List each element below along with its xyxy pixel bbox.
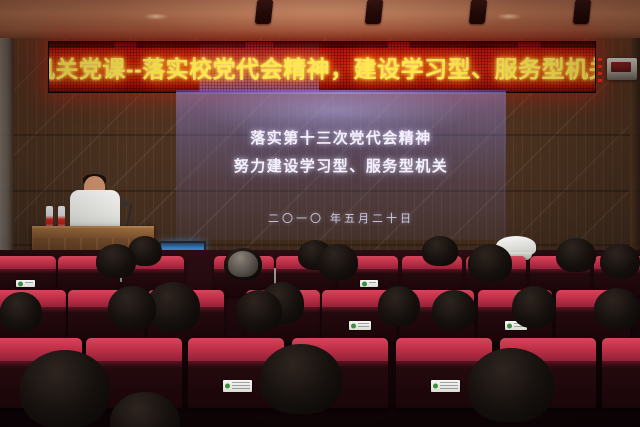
ceiling-speaker-icon xyxy=(365,0,384,24)
audience-member-head xyxy=(422,236,458,266)
seat-cushion-top xyxy=(602,338,640,362)
seat-back-lip xyxy=(402,269,462,273)
ceiling-glow xyxy=(0,0,640,40)
auditorium-seat xyxy=(602,338,640,408)
seat-label-text-lines xyxy=(358,323,369,328)
podium-microphone xyxy=(122,200,128,206)
green-circle-logo-icon xyxy=(351,323,356,328)
audience-member-head xyxy=(556,238,596,272)
seat-label-text-lines xyxy=(232,382,250,390)
audience-seating-area xyxy=(0,250,640,427)
ceiling-speaker-icon xyxy=(469,0,488,24)
audience-member-head xyxy=(432,290,476,330)
audience-member-head xyxy=(468,244,512,282)
audience-member-head xyxy=(96,244,136,278)
seat-back-lip xyxy=(0,269,56,273)
projection-line-1: 落实第十三次党代会精神 xyxy=(176,127,506,148)
seat-label-text-lines xyxy=(369,282,376,285)
wall-indicator-lights-icon xyxy=(598,58,602,84)
green-circle-logo-icon xyxy=(507,323,512,328)
seat-number-label xyxy=(16,280,35,287)
green-circle-logo-icon xyxy=(362,281,367,286)
seat-label-text-lines xyxy=(440,382,458,390)
led-banner-text: 机关党课--落实校党代会精神，建设学习型、服务型机关 xyxy=(49,42,595,92)
audience-member-head xyxy=(228,251,258,277)
seat-number-label xyxy=(349,321,371,330)
audience-member-head xyxy=(378,286,420,326)
seat-cushion-top xyxy=(86,338,182,362)
led-banner: 机关党课--落实校党代会精神，建设学习型、服务型机关 xyxy=(48,41,596,93)
seat-back-lip xyxy=(602,361,640,367)
seat-cushion-top xyxy=(396,338,492,362)
audience-member-head xyxy=(468,348,554,422)
projection-line-2: 努力建设学习型、服务型机关 xyxy=(176,155,506,176)
ceiling-speaker-icon xyxy=(255,0,274,24)
audience-member-head xyxy=(236,290,282,332)
audience-member-head xyxy=(0,292,42,332)
seat-cushion-top xyxy=(0,256,56,270)
ceiling-lamp-icon xyxy=(496,14,522,20)
audience-member-head xyxy=(108,286,156,330)
audience-member-head xyxy=(20,350,110,427)
wall-mounted-device-icon xyxy=(607,58,637,80)
projection-date: 二〇一〇 年五月二十日 xyxy=(176,210,506,226)
audience-member-head xyxy=(512,286,556,328)
audience-member-head xyxy=(318,244,358,280)
green-circle-logo-icon xyxy=(18,281,23,286)
audience-member-head xyxy=(594,288,640,330)
auditorium-photo: 机关党课--落实校党代会精神，建设学习型、服务型机关 落实第十三次党代会精神 努… xyxy=(0,0,640,427)
seat-label-text-lines xyxy=(25,282,33,285)
audience-member-head xyxy=(260,344,342,414)
wall-device-screen xyxy=(611,62,631,72)
green-circle-logo-icon xyxy=(225,384,230,389)
ceiling-speaker-icon xyxy=(573,0,592,24)
audience-member-head xyxy=(600,244,640,278)
ceiling-lamp-icon xyxy=(143,14,169,20)
green-circle-logo-icon xyxy=(433,384,438,389)
seat-number-label xyxy=(360,280,378,287)
seat-number-label xyxy=(223,380,252,392)
seat-number-label xyxy=(431,380,460,392)
